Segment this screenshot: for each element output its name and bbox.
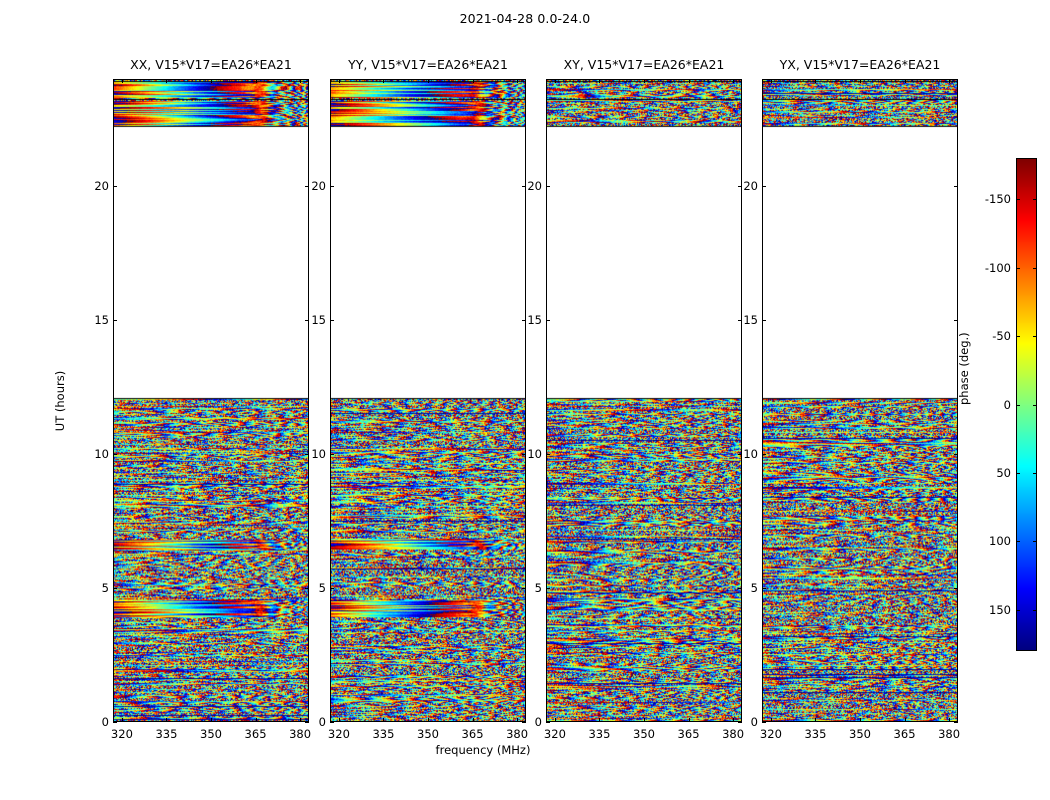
x-axis-label: frequency (MHz) xyxy=(436,743,531,757)
y-axis-tick-mark xyxy=(954,588,958,589)
y-axis-tick-mark xyxy=(522,722,526,723)
y-axis-tick-label: 0 xyxy=(535,715,542,729)
y-axis-tick-mark xyxy=(113,320,117,321)
y-axis-tick-label: 20 xyxy=(527,179,542,193)
y-axis-tick-label: 15 xyxy=(94,313,109,327)
y-axis-tick-label: 10 xyxy=(311,447,326,461)
colorbar-tick-mark xyxy=(1033,541,1037,542)
x-axis-tick-mark xyxy=(211,79,212,83)
x-axis-tick-mark xyxy=(733,79,734,83)
colorbar-tick-label: 0 xyxy=(1004,398,1011,412)
x-axis-tick-mark xyxy=(555,718,556,722)
colorbar-tick-label: 50 xyxy=(996,466,1011,480)
x-axis-tick-mark xyxy=(644,79,645,83)
x-axis-tick-mark xyxy=(428,718,429,722)
x-axis-tick-mark xyxy=(733,718,734,722)
x-axis-tick-mark xyxy=(256,79,257,83)
colorbar-tick-label: -50 xyxy=(992,329,1011,343)
x-axis-tick-label: 335 xyxy=(804,727,826,741)
x-axis-tick-mark xyxy=(122,718,123,722)
y-axis-tick-label: 15 xyxy=(311,313,326,327)
x-axis-tick-mark xyxy=(860,79,861,83)
axes-frame-yy xyxy=(330,79,526,722)
y-axis-tick-mark xyxy=(113,186,117,187)
x-axis-tick-mark xyxy=(339,718,340,722)
panel-title-yx: YX, V15*V17=EA26*EA21 xyxy=(780,57,941,72)
colorbar-tick-label: 150 xyxy=(989,603,1011,617)
y-axis-tick-label: 5 xyxy=(751,581,758,595)
colorbar-tick-mark xyxy=(1033,268,1037,269)
x-axis-tick-label: 365 xyxy=(678,727,700,741)
y-axis-tick-label: 0 xyxy=(102,715,109,729)
x-axis-tick-mark xyxy=(473,718,474,722)
colorbar-tick-mark xyxy=(1016,473,1020,474)
figure-suptitle: 2021-04-28 0.0-24.0 xyxy=(0,11,1050,26)
colorbar-tick-mark xyxy=(1016,268,1020,269)
x-axis-tick-mark xyxy=(122,79,123,83)
y-axis-tick-label: 20 xyxy=(311,179,326,193)
y-axis-tick-label: 5 xyxy=(102,581,109,595)
y-axis-tick-mark xyxy=(738,722,742,723)
colorbar-label: phase (deg.) xyxy=(957,332,971,405)
y-axis-tick-mark xyxy=(330,722,334,723)
colorbar-tick-mark xyxy=(1033,473,1037,474)
x-axis-tick-label: 380 xyxy=(506,727,528,741)
y-axis-tick-mark xyxy=(954,454,958,455)
y-axis-tick-mark xyxy=(546,186,550,187)
x-axis-tick-mark xyxy=(517,718,518,722)
y-axis-tick-mark xyxy=(330,454,334,455)
y-axis-tick-mark xyxy=(762,722,766,723)
y-axis-tick-label: 10 xyxy=(94,447,109,461)
y-axis-tick-mark xyxy=(305,588,309,589)
heatmap-canvas-yy xyxy=(331,80,525,721)
x-axis-tick-label: 350 xyxy=(417,727,439,741)
x-axis-tick-label: 380 xyxy=(938,727,960,741)
x-axis-tick-mark xyxy=(644,718,645,722)
y-axis-tick-mark xyxy=(522,186,526,187)
y-axis-tick-mark xyxy=(546,320,550,321)
x-axis-tick-label: 320 xyxy=(760,727,782,741)
y-axis-tick-label: 10 xyxy=(743,447,758,461)
colorbar-tick-label: 100 xyxy=(989,534,1011,548)
axes-frame-xy xyxy=(546,79,742,722)
x-axis-tick-mark xyxy=(689,718,690,722)
y-axis-tick-label: 15 xyxy=(527,313,542,327)
y-axis-tick-mark xyxy=(305,722,309,723)
x-axis-tick-mark xyxy=(339,79,340,83)
heatmap-yx xyxy=(763,80,957,721)
x-axis-tick-mark xyxy=(815,718,816,722)
x-axis-tick-mark xyxy=(383,718,384,722)
x-axis-tick-label: 320 xyxy=(544,727,566,741)
y-axis-tick-mark xyxy=(330,186,334,187)
y-axis-tick-mark xyxy=(113,454,117,455)
x-axis-tick-mark xyxy=(300,79,301,83)
y-axis-tick-mark xyxy=(330,588,334,589)
colorbar-tick-mark xyxy=(1016,610,1020,611)
y-axis-tick-mark xyxy=(113,588,117,589)
y-axis-tick-mark xyxy=(305,186,309,187)
colorbar-tick-mark xyxy=(1016,336,1020,337)
y-axis-tick-mark xyxy=(954,320,958,321)
y-axis-tick-label: 15 xyxy=(743,313,758,327)
colorbar-tick-mark xyxy=(1016,541,1020,542)
x-axis-tick-mark xyxy=(905,79,906,83)
x-axis-tick-mark xyxy=(771,718,772,722)
y-axis-tick-mark xyxy=(762,320,766,321)
x-axis-tick-mark xyxy=(771,79,772,83)
colorbar-tick-label: -100 xyxy=(985,261,1011,275)
x-axis-tick-mark xyxy=(300,718,301,722)
x-axis-tick-label: 350 xyxy=(200,727,222,741)
x-axis-tick-label: 335 xyxy=(588,727,610,741)
y-axis-tick-mark xyxy=(762,454,766,455)
y-axis-tick-mark xyxy=(762,186,766,187)
y-axis-tick-mark xyxy=(546,454,550,455)
x-axis-tick-mark xyxy=(166,79,167,83)
x-axis-tick-mark xyxy=(428,79,429,83)
colorbar-tick-mark xyxy=(1016,199,1020,200)
x-axis-tick-mark xyxy=(905,718,906,722)
x-axis-tick-mark xyxy=(166,718,167,722)
y-axis-tick-label: 10 xyxy=(527,447,542,461)
x-axis-tick-label: 350 xyxy=(849,727,871,741)
y-axis-tick-label: 20 xyxy=(743,179,758,193)
colorbar-tick-label: -150 xyxy=(985,192,1011,206)
panel-title-yy: YY, V15*V17=EA26*EA21 xyxy=(348,57,508,72)
heatmap-canvas-xx xyxy=(114,80,308,721)
x-axis-tick-mark xyxy=(383,79,384,83)
panel-title-xx: XX, V15*V17=EA26*EA21 xyxy=(130,57,292,72)
x-axis-tick-label: 380 xyxy=(722,727,744,741)
y-axis-tick-mark xyxy=(546,588,550,589)
x-axis-tick-mark xyxy=(860,718,861,722)
x-axis-tick-label: 320 xyxy=(328,727,350,741)
y-axis-label: UT (hours) xyxy=(53,370,67,430)
y-axis-tick-mark xyxy=(738,454,742,455)
y-axis-tick-mark xyxy=(546,722,550,723)
y-axis-tick-label: 0 xyxy=(319,715,326,729)
colorbar-tick-mark xyxy=(1033,610,1037,611)
x-axis-tick-mark xyxy=(211,718,212,722)
colorbar-tick-mark xyxy=(1033,199,1037,200)
y-axis-tick-mark xyxy=(738,588,742,589)
y-axis-tick-mark xyxy=(738,320,742,321)
panel-yy[interactable]: YY, V15*V17=EA26*EA21 051015203203353503… xyxy=(330,79,526,722)
x-axis-tick-mark xyxy=(815,79,816,83)
y-axis-tick-label: 5 xyxy=(535,581,542,595)
x-axis-tick-mark xyxy=(555,79,556,83)
panel-title-xy: XY, V15*V17=EA26*EA21 xyxy=(564,57,725,72)
x-axis-tick-label: 335 xyxy=(372,727,394,741)
y-axis-tick-mark xyxy=(762,588,766,589)
y-axis-tick-mark xyxy=(305,320,309,321)
y-axis-tick-label: 5 xyxy=(319,581,326,595)
x-axis-tick-mark xyxy=(689,79,690,83)
y-axis-tick-label: 0 xyxy=(751,715,758,729)
x-axis-tick-label: 365 xyxy=(245,727,267,741)
figure-canvas: 2021-04-28 0.0-24.0 XX, V15*V17=EA26*EA2… xyxy=(0,0,1050,800)
x-axis-tick-mark xyxy=(473,79,474,83)
panel-yx[interactable]: YX, V15*V17=EA26*EA21 051015203203353503… xyxy=(762,79,958,722)
x-axis-tick-mark xyxy=(599,718,600,722)
colorbar-tick-mark xyxy=(1033,336,1037,337)
y-axis-tick-label: 20 xyxy=(94,179,109,193)
heatmap-yy xyxy=(331,80,525,721)
x-axis-tick-mark xyxy=(599,79,600,83)
x-axis-tick-label: 365 xyxy=(462,727,484,741)
colorbar-tick-mark xyxy=(1033,405,1037,406)
axes-frame-xx xyxy=(113,79,309,722)
y-axis-tick-mark xyxy=(954,186,958,187)
heatmap-xy xyxy=(547,80,741,721)
panel-xx[interactable]: XX, V15*V17=EA26*EA21 051015203203353503… xyxy=(113,79,309,722)
y-axis-tick-mark xyxy=(330,320,334,321)
colorbar[interactable]: 150100500-50-100-150 xyxy=(1016,158,1037,651)
x-axis-tick-label: 335 xyxy=(155,727,177,741)
y-axis-tick-mark xyxy=(522,454,526,455)
y-axis-tick-mark xyxy=(954,722,958,723)
x-axis-tick-mark xyxy=(949,79,950,83)
heatmap-xx xyxy=(114,80,308,721)
x-axis-tick-mark xyxy=(256,718,257,722)
x-axis-tick-mark xyxy=(517,79,518,83)
y-axis-tick-mark xyxy=(305,454,309,455)
y-axis-tick-mark xyxy=(522,320,526,321)
x-axis-tick-label: 350 xyxy=(633,727,655,741)
y-axis-tick-mark xyxy=(738,186,742,187)
axes-frame-yx xyxy=(762,79,958,722)
x-axis-tick-label: 380 xyxy=(289,727,311,741)
panel-xy[interactable]: XY, V15*V17=EA26*EA21 051015203203353503… xyxy=(546,79,742,722)
heatmap-canvas-xy xyxy=(547,80,741,721)
heatmap-canvas-yx xyxy=(763,80,957,721)
x-axis-tick-label: 365 xyxy=(894,727,916,741)
y-axis-tick-mark xyxy=(113,722,117,723)
x-axis-tick-label: 320 xyxy=(111,727,133,741)
colorbar-tick-mark xyxy=(1016,405,1020,406)
x-axis-tick-mark xyxy=(949,718,950,722)
y-axis-tick-mark xyxy=(522,588,526,589)
